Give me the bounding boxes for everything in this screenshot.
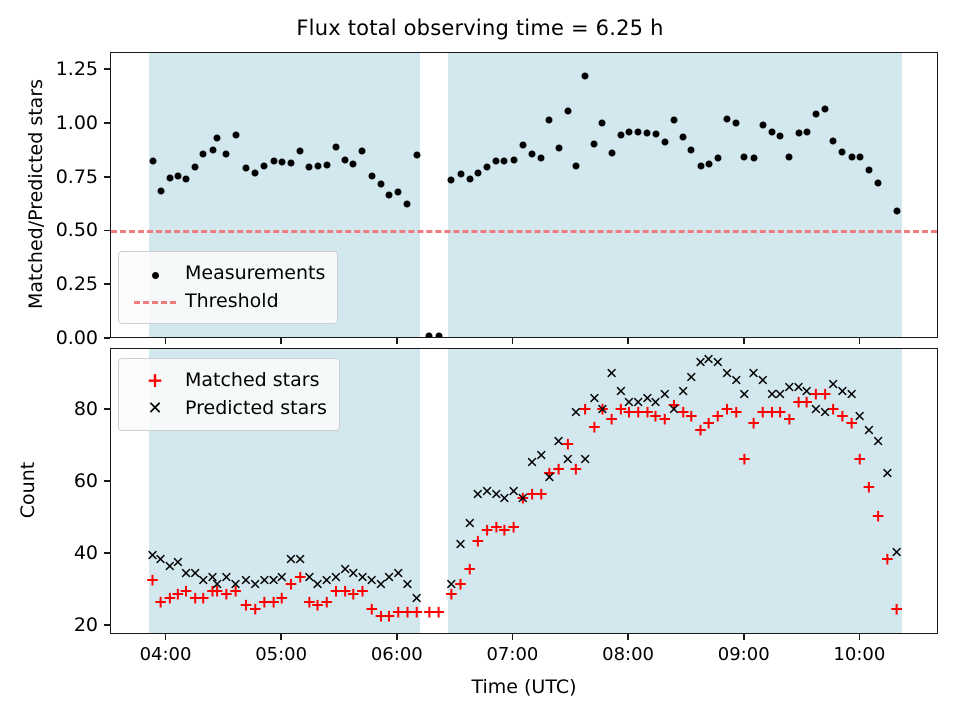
count-panel-legend: +Matched stars✕Predicted stars	[118, 358, 340, 431]
x-tick-mark	[627, 338, 629, 344]
data-point	[688, 147, 695, 154]
x-tick-label: 04:00	[140, 644, 192, 665]
data-point	[529, 151, 536, 158]
data-point-x: ✕	[800, 384, 813, 399]
figure: Flux total observing time = 6.25 h 0.000…	[0, 0, 960, 720]
data-point	[306, 164, 313, 171]
data-point-x: ✕	[579, 452, 592, 467]
data-point-x: ✕	[294, 552, 307, 567]
data-point	[323, 162, 330, 169]
data-point	[795, 130, 802, 137]
legend-entry: +Matched stars	[129, 366, 327, 394]
legend-label: Matched stars	[181, 369, 319, 391]
count-panel-ylabel: Count	[17, 410, 39, 570]
y-tick-mark	[104, 337, 110, 339]
y-tick-label: 0.25	[0, 273, 98, 295]
y-tick-label: 40	[0, 542, 98, 564]
y-tick-mark	[104, 408, 110, 410]
data-point	[803, 129, 810, 136]
y-tick-label: 0.00	[0, 327, 98, 349]
data-point	[733, 120, 740, 127]
data-point-plus: +	[871, 508, 885, 525]
legend-label: Predicted stars	[181, 397, 327, 419]
legend-x-icon: ✕	[129, 398, 181, 419]
data-point	[644, 130, 651, 137]
data-point	[214, 135, 221, 142]
data-point	[555, 145, 562, 152]
data-point-x: ✕	[668, 402, 681, 417]
data-point	[149, 157, 156, 164]
data-point-x: ✕	[463, 517, 476, 532]
data-point	[359, 148, 366, 155]
data-point	[670, 117, 677, 124]
data-point	[209, 147, 216, 154]
y-tick-mark	[104, 552, 110, 554]
y-tick-label: 0.50	[0, 219, 98, 241]
data-point	[501, 157, 508, 164]
data-point-x: ✕	[881, 467, 894, 482]
x-tick-mark	[512, 634, 514, 640]
data-point	[314, 163, 321, 170]
x-tick-mark	[743, 338, 745, 344]
data-point	[582, 73, 589, 80]
data-point-plus: +	[534, 487, 548, 504]
data-point-plus: +	[782, 412, 796, 429]
data-point	[466, 175, 473, 182]
data-point	[812, 110, 819, 117]
data-point-plus: +	[587, 419, 601, 436]
data-point	[741, 153, 748, 160]
legend-entry: ✕Predicted stars	[129, 394, 327, 422]
x-tick-mark	[165, 634, 167, 640]
data-point	[426, 332, 433, 338]
data-point	[232, 132, 239, 139]
data-point	[368, 172, 375, 179]
data-point	[617, 132, 624, 139]
data-point-x: ✕	[454, 538, 467, 553]
data-point	[435, 332, 442, 338]
y-tick-mark	[104, 68, 110, 70]
data-point-x: ✕	[819, 406, 832, 421]
data-point-x: ✕	[275, 570, 288, 585]
data-point	[724, 116, 731, 123]
data-point	[519, 141, 526, 148]
data-point	[413, 152, 420, 159]
data-point	[572, 163, 579, 170]
data-point	[893, 208, 900, 215]
data-point-x: ✕	[677, 384, 690, 399]
x-tick-mark	[396, 634, 398, 640]
y-tick-mark	[104, 283, 110, 285]
data-point-x: ✕	[517, 492, 530, 507]
data-point	[705, 161, 712, 168]
y-tick-label: 80	[0, 398, 98, 420]
data-point	[777, 133, 784, 140]
data-point	[839, 149, 846, 156]
data-point	[714, 154, 721, 161]
data-point	[786, 153, 793, 160]
data-point	[769, 129, 776, 136]
legend-entry: Threshold	[129, 287, 325, 315]
data-point	[174, 172, 181, 179]
data-point-x: ✕	[872, 434, 885, 449]
y-tick-mark	[104, 176, 110, 178]
data-point	[608, 150, 615, 157]
data-point-plus: +	[463, 562, 477, 579]
x-tick-mark	[280, 338, 282, 344]
data-point-plus: +	[862, 480, 876, 497]
data-point	[200, 151, 207, 158]
data-point	[395, 188, 402, 195]
x-axis-label: Time (UTC)	[471, 676, 576, 698]
ratio-panel-ylabel: Matched/Predicted stars	[25, 74, 47, 314]
data-point	[856, 153, 863, 160]
data-point-x: ✕	[685, 370, 698, 385]
data-point	[625, 129, 632, 136]
threshold-line	[111, 230, 937, 233]
data-point	[510, 156, 517, 163]
y-tick-mark	[104, 230, 110, 232]
data-point	[474, 169, 481, 176]
data-point	[350, 161, 357, 168]
y-tick-label: 1.00	[0, 112, 98, 134]
x-tick-mark	[165, 338, 167, 344]
data-point	[822, 105, 829, 112]
y-tick-label: 60	[0, 470, 98, 492]
legend-dashed-line-icon	[129, 292, 181, 311]
data-point	[297, 148, 304, 155]
data-point	[599, 120, 606, 127]
data-point	[157, 187, 164, 194]
data-point-plus: +	[889, 601, 903, 618]
data-point	[661, 138, 668, 145]
data-point-x: ✕	[845, 388, 858, 403]
data-point	[564, 107, 571, 114]
data-point	[192, 164, 199, 171]
data-point	[875, 180, 882, 187]
y-tick-label: 1.25	[0, 58, 98, 80]
data-point	[261, 163, 268, 170]
data-point	[457, 170, 464, 177]
y-tick-mark	[104, 480, 110, 482]
x-tick-label: 05:00	[255, 644, 307, 665]
data-point	[448, 177, 455, 184]
data-point	[484, 164, 491, 171]
data-point	[242, 165, 249, 172]
data-point	[848, 153, 855, 160]
data-point-x: ✕	[562, 452, 575, 467]
data-point-x: ✕	[890, 545, 903, 560]
data-point	[377, 181, 384, 188]
data-point-x: ✕	[596, 402, 609, 417]
data-point	[759, 121, 766, 128]
chart-title: Flux total observing time = 6.25 h	[0, 16, 960, 40]
x-tick-label: 09:00	[718, 644, 770, 665]
data-point	[166, 174, 173, 181]
data-point-x: ✕	[445, 577, 458, 592]
x-tick-label: 06:00	[371, 644, 423, 665]
data-point	[830, 137, 837, 144]
x-tick-label: 10:00	[833, 644, 885, 665]
data-point-x: ✕	[552, 434, 565, 449]
data-point	[538, 154, 545, 161]
data-point	[865, 167, 872, 174]
data-point-x: ✕	[605, 367, 618, 382]
data-point	[342, 156, 349, 163]
data-point-plus: +	[737, 451, 751, 468]
legend-label: Threshold	[181, 290, 279, 312]
data-point	[652, 131, 659, 138]
data-point-x: ✕	[738, 388, 751, 403]
data-point	[591, 140, 598, 147]
data-point	[635, 129, 642, 136]
data-point-plus: +	[853, 451, 867, 468]
x-tick-label: 08:00	[602, 644, 654, 665]
data-point-plus: +	[506, 519, 520, 536]
data-point	[546, 117, 553, 124]
legend-label: Measurements	[181, 262, 325, 284]
data-point	[680, 134, 687, 141]
x-tick-mark	[627, 634, 629, 640]
data-point-x: ✕	[410, 592, 423, 607]
data-point	[223, 151, 230, 158]
x-tick-mark	[280, 634, 282, 640]
data-point-plus: +	[432, 605, 446, 622]
data-point	[332, 143, 339, 150]
data-point-x: ✕	[543, 470, 556, 485]
y-tick-mark	[104, 122, 110, 124]
x-tick-mark	[743, 634, 745, 640]
legend-entry: Measurements	[129, 259, 325, 287]
y-tick-label: 0.75	[0, 166, 98, 188]
y-tick-mark	[104, 624, 110, 626]
x-tick-mark	[512, 338, 514, 344]
legend-dot-icon	[129, 264, 181, 283]
data-point-x: ✕	[570, 406, 583, 421]
data-point	[404, 200, 411, 207]
x-tick-label: 07:00	[486, 644, 538, 665]
x-tick-mark	[859, 634, 861, 640]
data-point	[252, 169, 259, 176]
data-point-plus: +	[729, 405, 743, 422]
data-point	[493, 157, 500, 164]
shaded-band	[448, 53, 903, 337]
data-point	[278, 158, 285, 165]
data-point	[270, 157, 277, 164]
data-point	[386, 192, 393, 199]
x-tick-mark	[859, 338, 861, 344]
data-point	[182, 175, 189, 182]
x-tick-mark	[396, 338, 398, 344]
data-point-x: ✕	[535, 449, 548, 464]
y-tick-label: 20	[0, 614, 98, 636]
data-point-plus: +	[145, 573, 159, 590]
data-point	[750, 154, 757, 161]
data-point	[697, 163, 704, 170]
ratio-panel-legend: MeasurementsThreshold	[118, 251, 338, 324]
data-point	[287, 159, 294, 166]
legend-plus-icon: +	[129, 368, 181, 392]
